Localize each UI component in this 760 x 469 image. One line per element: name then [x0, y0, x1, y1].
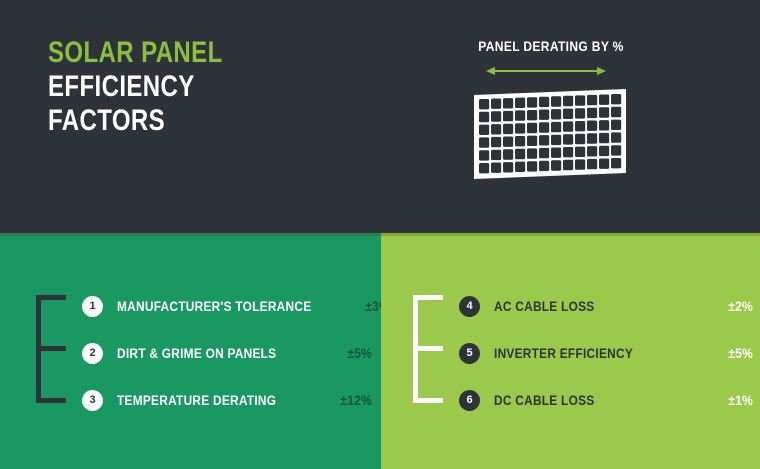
factor-label: DIRT & GRIME ON PANELS	[117, 346, 296, 361]
factor-label: TEMPERATURE DERATING	[117, 393, 296, 408]
factor-rows-left: 1 MANUFACTURER'S TOLERANCE ±3% 2 DIRT & …	[82, 289, 372, 409]
title-line-2: EFFICIENCY	[48, 70, 288, 104]
factor-row[interactable]: 4 AC CABLE LOSS ±2%	[459, 294, 753, 318]
factor-number-badge: 1	[82, 296, 103, 317]
double-headed-arrow-icon	[486, 66, 606, 76]
factor-number-badge: 4	[459, 296, 480, 317]
factor-label: MANUFACTURER'S TOLERANCE	[117, 299, 311, 314]
factor-value: ±5%	[325, 346, 372, 361]
factor-label: DC CABLE LOSS	[494, 393, 676, 408]
factor-number-badge: 3	[82, 390, 103, 411]
factors-panel-left: 1 MANUFACTURER'S TOLERANCE ±3% 2 DIRT & …	[0, 233, 381, 469]
factor-label: INVERTER EFFICIENCY	[494, 346, 676, 361]
factor-row[interactable]: 6 DC CABLE LOSS ±1%	[459, 388, 753, 412]
page-title: SOLAR PANEL EFFICIENCY FACTORS	[48, 36, 348, 138]
factor-value: ±12%	[325, 393, 372, 408]
header-section: SOLAR PANEL EFFICIENCY FACTORS PANEL DER…	[0, 0, 760, 233]
panel-illustration: PANEL DERATING BY %	[466, 38, 646, 188]
factor-value: ±5%	[706, 346, 753, 361]
factor-row[interactable]: 3 TEMPERATURE DERATING ±12%	[82, 388, 372, 412]
factor-label: AC CABLE LOSS	[494, 299, 676, 314]
factor-number-badge: 6	[459, 390, 480, 411]
band-top-divider	[0, 233, 381, 236]
factor-list-left: 1 MANUFACTURER'S TOLERANCE ±3% 2 DIRT & …	[36, 289, 372, 409]
factor-value: ±2%	[706, 299, 753, 314]
band-top-divider	[381, 233, 760, 236]
factor-row[interactable]: 1 MANUFACTURER'S TOLERANCE ±3%	[82, 294, 372, 318]
bracket-e-icon	[413, 295, 449, 403]
factor-number-badge: 5	[459, 343, 480, 364]
factor-value: ±1%	[706, 393, 753, 408]
factor-number-badge: 2	[82, 343, 103, 364]
derating-label: PANEL DERATING BY %	[478, 38, 624, 54]
solar-panel-icon	[472, 89, 628, 179]
factor-rows-right: 4 AC CABLE LOSS ±2% 5 INVERTER EFFICIENC…	[459, 289, 753, 409]
infographic-root: SOLAR PANEL EFFICIENCY FACTORS PANEL DER…	[0, 0, 760, 469]
factor-row[interactable]: 2 DIRT & GRIME ON PANELS ±5%	[82, 341, 372, 365]
factors-panel-right: 4 AC CABLE LOSS ±2% 5 INVERTER EFFICIENC…	[381, 233, 760, 469]
title-line-3: FACTORS	[48, 104, 288, 138]
factor-list-right: 4 AC CABLE LOSS ±2% 5 INVERTER EFFICIENC…	[413, 289, 753, 409]
bracket-e-icon	[36, 295, 72, 403]
factor-row[interactable]: 5 INVERTER EFFICIENCY ±5%	[459, 341, 753, 365]
title-line-1: SOLAR PANEL	[48, 36, 288, 70]
